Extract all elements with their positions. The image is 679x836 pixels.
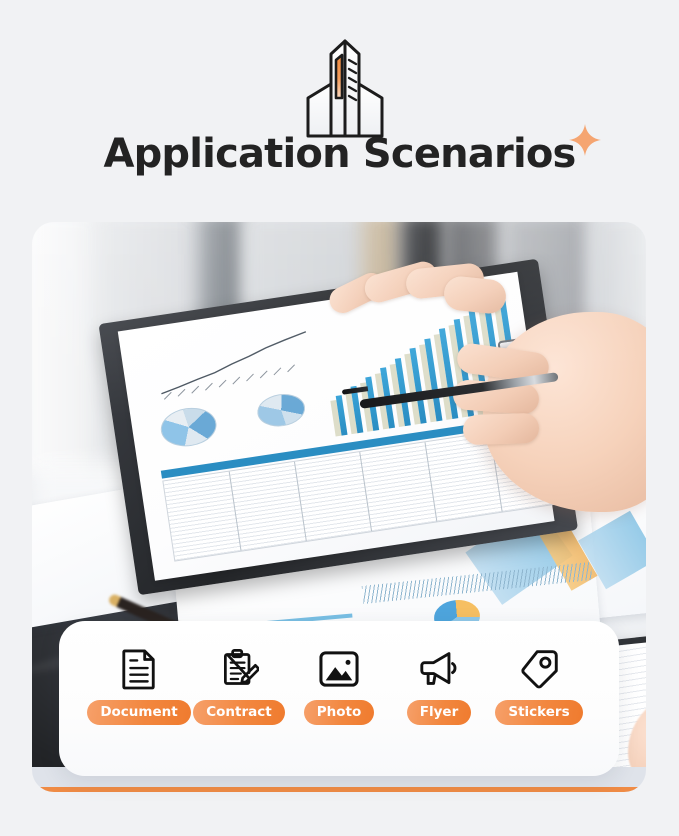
tag-icon: [519, 647, 559, 691]
feature-item-flyer[interactable]: Flyer: [389, 647, 489, 725]
feature-label-stickers[interactable]: Stickers: [495, 700, 582, 725]
feature-item-stickers[interactable]: Stickers: [489, 647, 589, 725]
feature-item-document[interactable]: Document: [89, 647, 189, 725]
report-line-chart: [151, 327, 317, 402]
feature-label-flyer[interactable]: Flyer: [407, 700, 471, 725]
contract-icon: [219, 647, 259, 691]
photo-icon: [318, 647, 360, 691]
megaphone-icon: [418, 647, 460, 691]
feature-item-contract[interactable]: Contract: [189, 647, 289, 725]
hand-with-pen: [437, 282, 646, 532]
document-icon: [120, 647, 158, 691]
feature-card: Document Contract: [59, 621, 619, 776]
feature-label-document[interactable]: Document: [87, 700, 190, 725]
page-header: Application Scenarios: [0, 0, 679, 210]
building-icon: [290, 36, 400, 141]
report-pie-chart-1: [158, 404, 219, 450]
page-title: Application Scenarios: [103, 128, 575, 180]
feature-label-photo[interactable]: Photo: [304, 700, 375, 725]
report-pie-chart-2: [255, 391, 307, 430]
sparkle-icon: [568, 123, 602, 157]
feature-item-photo[interactable]: Photo: [289, 647, 389, 725]
feature-label-contract[interactable]: Contract: [193, 700, 284, 725]
